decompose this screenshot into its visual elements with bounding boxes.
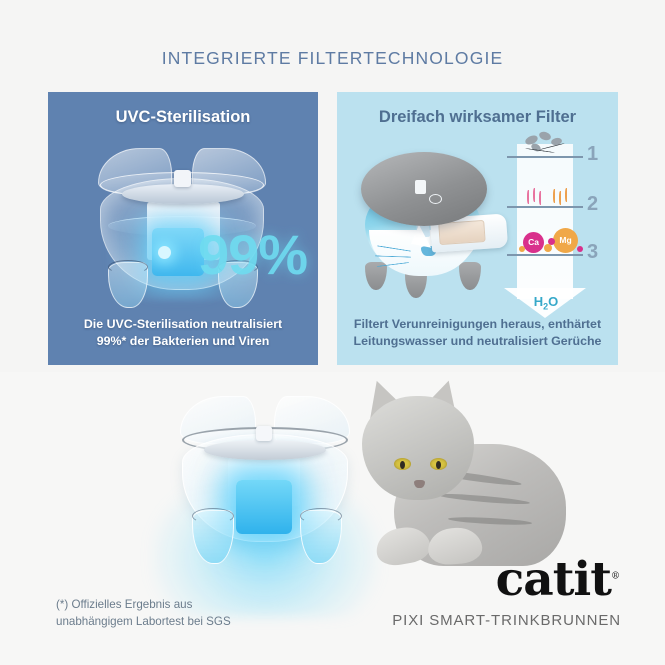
panel-triple-filter: Dreifach wirksamer Filter (337, 92, 618, 365)
footnote-line2: unabhängigem Labortest bei SGS (56, 615, 231, 628)
footnote-line1: (*) Offizielles Ergebnis aus (56, 598, 192, 611)
panel-uvc-caption-line2: 99%* der Bakterien und Viren (97, 334, 270, 348)
hero-fountain-lid (204, 440, 326, 460)
fountain-leg-band-left (108, 260, 148, 274)
hero-fountain-lid-tab (256, 426, 272, 441)
filter-stage-number-2: 2 (587, 193, 611, 216)
cat-eye-left (394, 458, 411, 470)
mineral-ion-calcium: Ca (523, 232, 544, 253)
mineral-dot-1 (544, 244, 552, 252)
debris-icon-2 (538, 130, 552, 141)
pixi-dome-lid (361, 152, 487, 226)
filter-stages-diagram: 1 2 Ca Mg 3 H2O (503, 128, 615, 323)
hero-fountain-leg-band-right (300, 508, 342, 524)
product-infographic: INTEGRIERTE FILTERTECHNOLOGIE UVC-Steril… (0, 0, 665, 665)
odor-wave-icon-6 (565, 188, 568, 202)
mineral-dot-4 (577, 246, 583, 252)
odor-wave-icon-4 (553, 189, 556, 203)
pixi-dome-ring-icon (429, 194, 442, 204)
panel-filter-caption: Filtert Verunreinigungen heraus, enthärt… (345, 316, 610, 349)
cat-eye-right (430, 458, 447, 470)
filter-stage-number-3: 3 (587, 241, 611, 264)
pixi-foot-left (365, 262, 387, 290)
water-formula-h: H (534, 294, 543, 309)
panel-filter-title: Dreifach wirksamer Filter (337, 108, 618, 127)
footnote: (*) Offizielles Ergebnis aus unabhängige… (56, 596, 306, 630)
panel-uvc-caption-line1: Die UVC-Sterilisation neutralisiert (84, 317, 282, 331)
odor-wave-icon-1 (527, 190, 530, 204)
fountain-lid-tab (174, 170, 191, 187)
pixi-dome-tab-icon (415, 180, 426, 194)
panel-uvc-sterilisation: UVC-Sterilisation 99% Die UVC-Sterilisat… (48, 92, 318, 365)
hero-uv-lamp (236, 480, 292, 534)
water-output-label: H2O (521, 294, 571, 312)
pixi-fountain-illustration (343, 126, 511, 316)
hero-fountain-leg-band-left (192, 508, 234, 524)
mineral-dot-2 (548, 238, 555, 245)
mineral-label-ca: Ca (523, 232, 544, 253)
page-title: INTEGRIERTE FILTERTECHNOLOGIE (0, 48, 665, 69)
uvc-fountain-illustration: 99% (48, 130, 318, 315)
fountain-lid (122, 184, 244, 204)
filter-stage-line-3 (507, 254, 583, 256)
pixi-foot-right (459, 262, 481, 290)
cat-pupil-right (436, 461, 441, 469)
cat-nose (414, 480, 425, 488)
odor-wave-icon-5 (559, 191, 562, 205)
odor-wave-icon-2 (533, 188, 536, 202)
panel-filter-caption-line2: Leitungswasser und neutralisiert Gerüche (354, 334, 602, 348)
brand-logo: catit® (496, 556, 619, 603)
mineral-label-mg: Mg (553, 228, 578, 253)
efficacy-badge: 99% (198, 222, 307, 287)
brand-logo-text: catit (496, 552, 611, 607)
mineral-ion-magnesium: Mg (553, 228, 578, 253)
cat-head (362, 396, 474, 500)
registered-trademark-icon: ® (611, 571, 619, 581)
panel-filter-caption-line1: Filtert Verunreinigungen heraus, enthärt… (354, 317, 601, 331)
product-tagline: PIXI SMART-TRINKBRUNNEN (392, 612, 621, 629)
water-flow-arrow-body (517, 144, 573, 299)
filter-stage-number-1: 1 (587, 143, 611, 166)
panel-uvc-caption: Die UVC-Sterilisation neutralisiert 99%*… (56, 316, 310, 349)
water-formula-o: O (548, 294, 558, 309)
mineral-dot-3 (519, 246, 525, 252)
uv-led-icon (158, 246, 171, 259)
filter-stage-line-2 (507, 206, 583, 208)
odor-wave-icon-3 (539, 191, 542, 205)
panel-uvc-title: UVC-Sterilisation (48, 108, 318, 127)
filter-stage-line-1 (507, 156, 583, 158)
cat-pupil-left (400, 461, 405, 469)
